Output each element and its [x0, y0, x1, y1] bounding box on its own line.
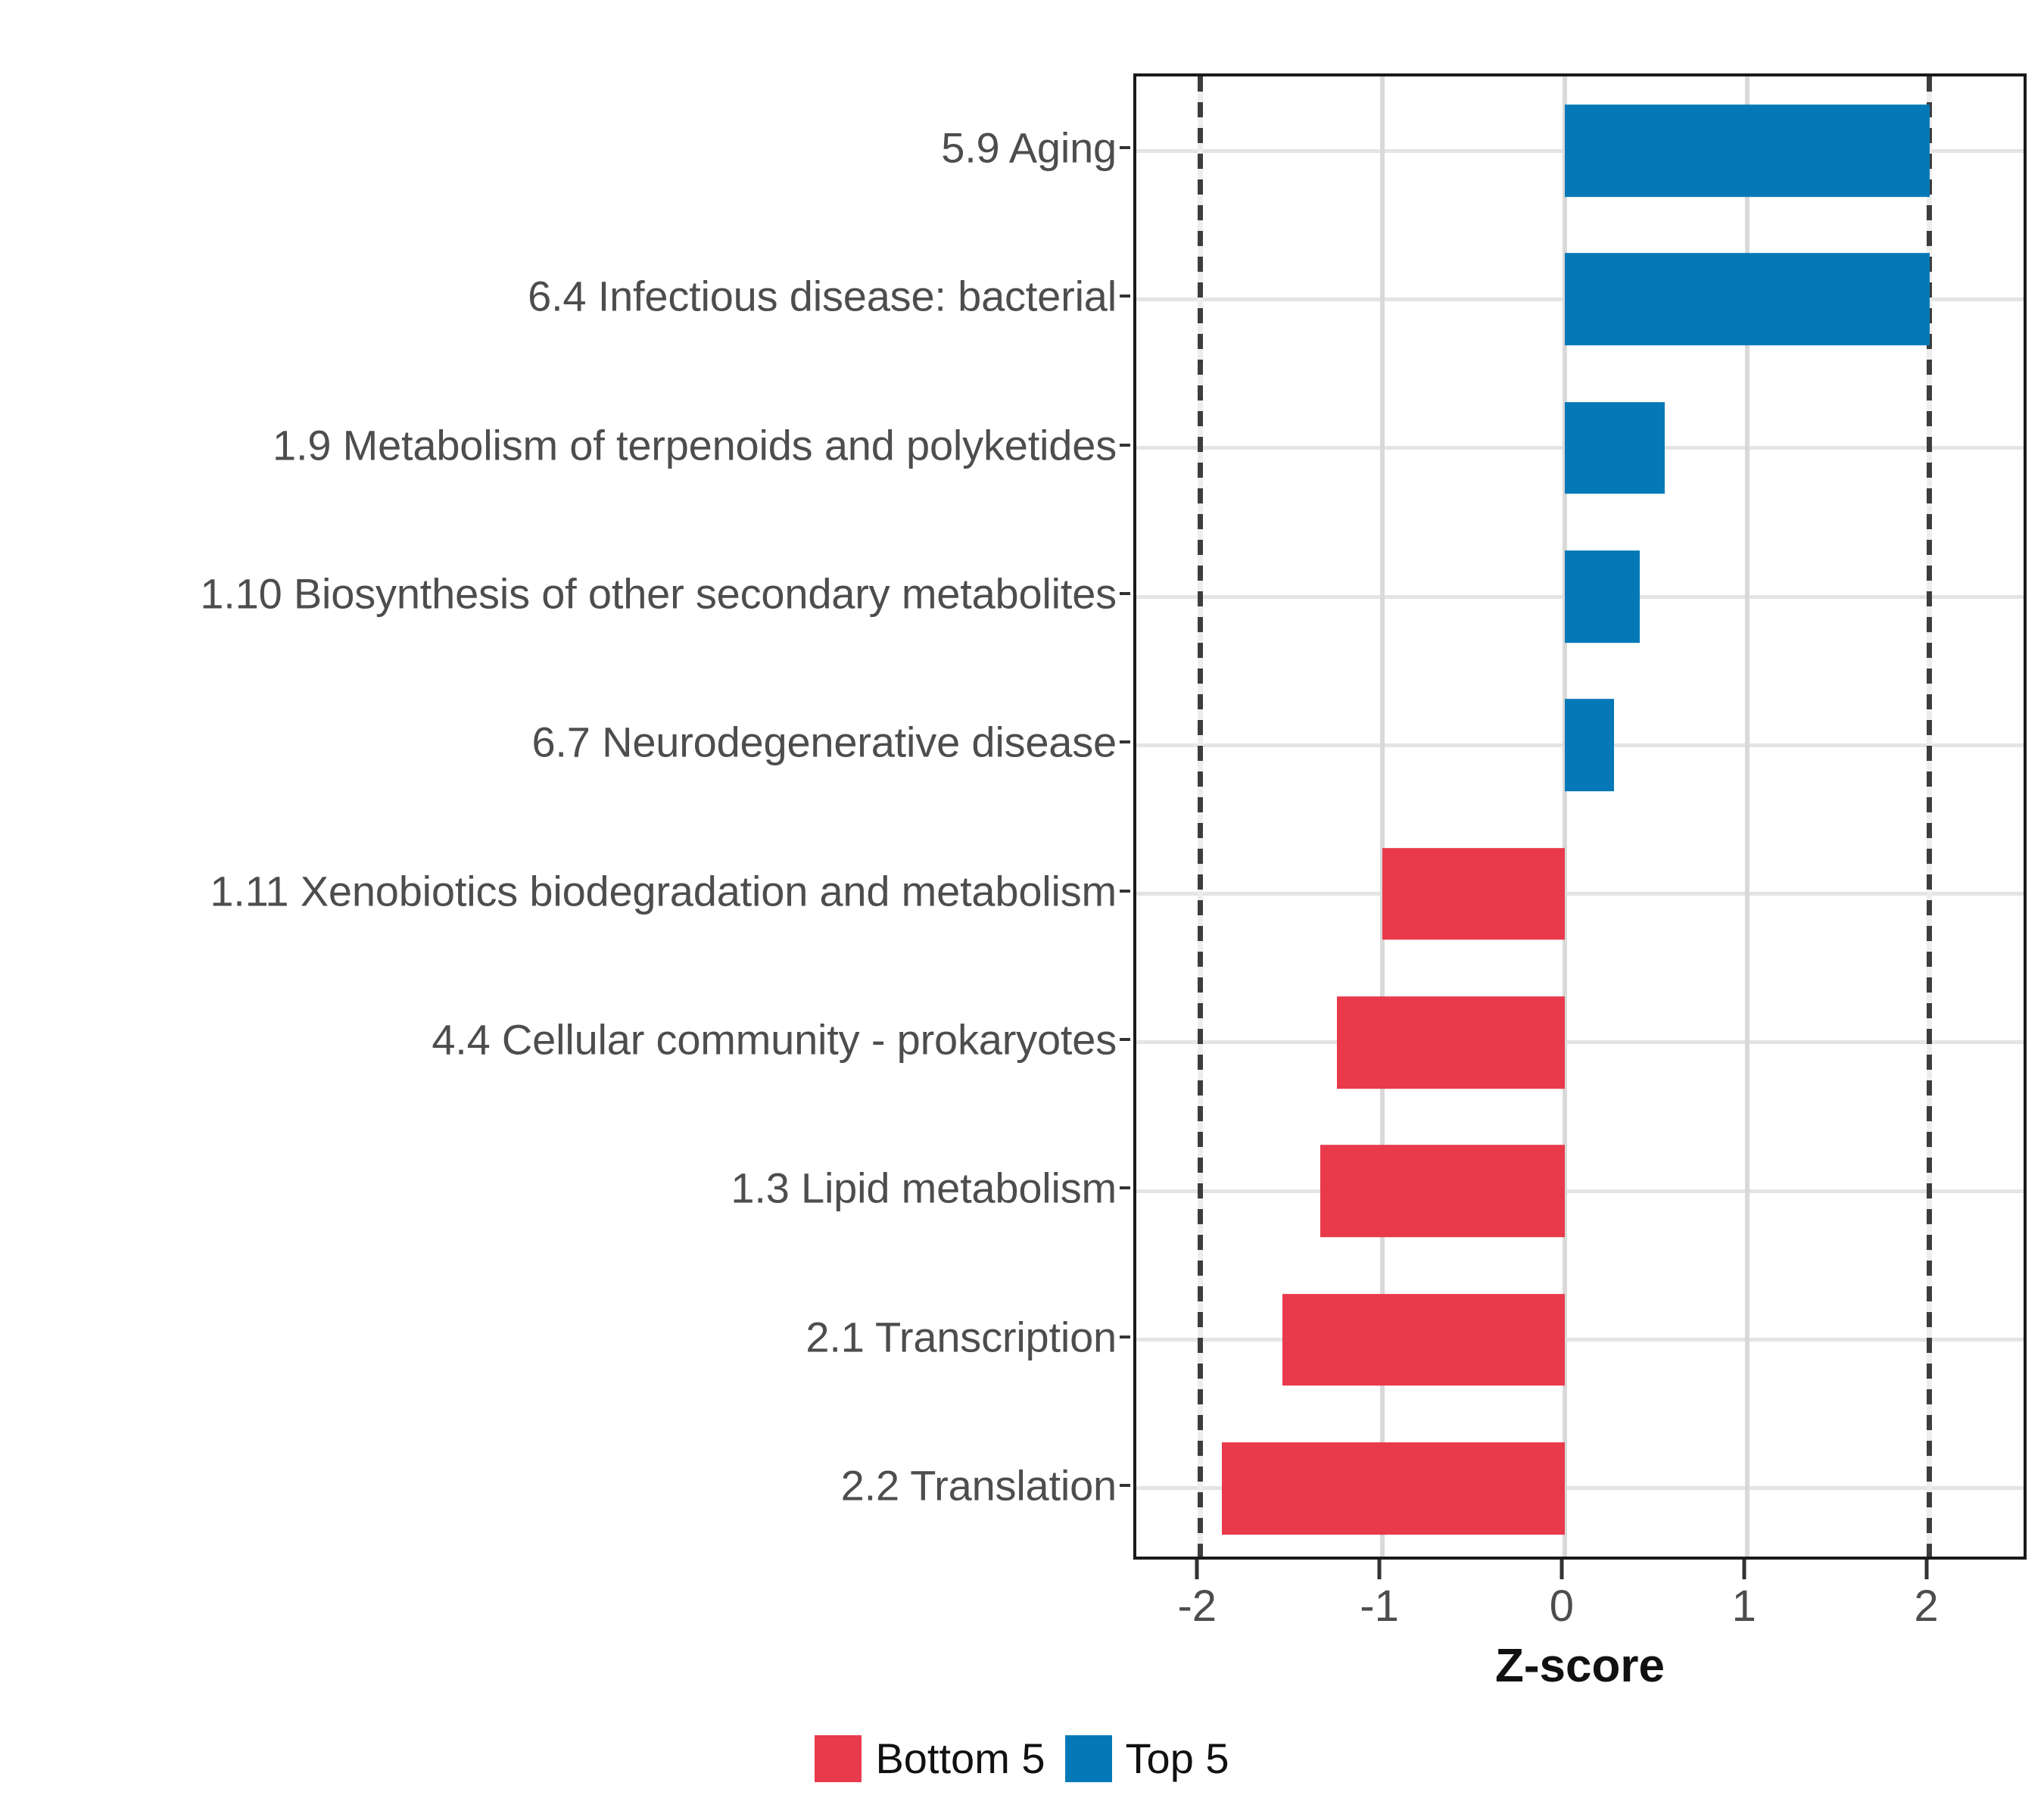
y-axis-tick-mark: [1120, 1186, 1130, 1189]
legend-label: Bottom 5: [875, 1734, 1045, 1783]
y-axis-tick-label: 1.3 Lipid metabolism: [731, 1164, 1117, 1213]
grid-line-horizontal: [1136, 1189, 2024, 1193]
x-axis-title: Z-score: [1133, 1639, 2027, 1693]
y-axis-tick-label: 2.2 Translation: [841, 1460, 1117, 1510]
y-axis-tick-label: 1.10 Biosynthesis of other secondary met…: [200, 569, 1117, 619]
x-axis-tick-mark: [1195, 1560, 1199, 1579]
x-axis-tick-label: 2: [1914, 1581, 1938, 1632]
x-axis-tick-label: -2: [1177, 1581, 1217, 1632]
y-axis-tick-mark: [1120, 740, 1130, 743]
x-axis-tick-label: 1: [1732, 1581, 1756, 1632]
y-axis-tick-mark: [1120, 1484, 1130, 1487]
x-axis-tick-mark: [1559, 1560, 1563, 1579]
y-axis-tick-mark: [1120, 890, 1130, 893]
x-axis-tick-label: -1: [1360, 1581, 1399, 1632]
bar[interactable]: [1565, 104, 1930, 197]
bar[interactable]: [1565, 699, 1614, 791]
plot-panel: [1133, 73, 2027, 1560]
y-axis-tick-label: 1.9 Metabolism of terpenoids and polyket…: [273, 420, 1117, 469]
bar[interactable]: [1337, 996, 1565, 1089]
grid-line-horizontal: [1136, 892, 2024, 896]
x-axis-tick-mark: [1742, 1560, 1746, 1579]
y-axis-tick-mark: [1120, 444, 1130, 447]
y-axis-tick-label: 4.4 Cellular community - prokaryotes: [432, 1014, 1117, 1064]
bar[interactable]: [1565, 402, 1665, 494]
legend-item[interactable]: Top 5: [1065, 1734, 1229, 1783]
bar[interactable]: [1382, 848, 1565, 940]
y-axis-tick-label: 5.9 Aging: [941, 123, 1117, 173]
bar[interactable]: [1222, 1442, 1565, 1535]
y-axis-tick-mark: [1120, 146, 1130, 149]
plot-area: [1136, 76, 2024, 1557]
x-axis-tick-mark: [1378, 1560, 1382, 1579]
chart-root: 5.9 Aging6.4 Infectious disease: bacteri…: [0, 0, 2044, 1817]
y-axis-tick-label: 6.4 Infectious disease: bacterial: [528, 272, 1117, 321]
legend-swatch-icon: [815, 1735, 862, 1782]
legend-label: Top 5: [1126, 1734, 1229, 1783]
grid-line-horizontal: [1136, 1040, 2024, 1044]
y-axis-tick-label: 1.11 Xenobiotics biodegradation and meta…: [210, 866, 1117, 915]
y-axis-tick-label: 2.1 Transcription: [805, 1312, 1117, 1361]
grid-line-horizontal: [1136, 1338, 2024, 1342]
legend: Bottom 5Top 5: [0, 1734, 2044, 1783]
y-axis-labels: 5.9 Aging6.4 Infectious disease: bacteri…: [0, 73, 1133, 1560]
bar[interactable]: [1565, 550, 1640, 643]
y-axis-tick-mark: [1120, 1038, 1130, 1041]
bar[interactable]: [1282, 1294, 1565, 1386]
x-axis: -2-1012: [1133, 1560, 2027, 1650]
x-axis-tick-label: 0: [1550, 1581, 1574, 1632]
y-axis-tick-mark: [1120, 1335, 1130, 1339]
y-axis-tick-mark: [1120, 295, 1130, 298]
bar[interactable]: [1565, 254, 1930, 346]
legend-item[interactable]: Bottom 5: [815, 1734, 1045, 1783]
y-axis-tick-label: 6.7 Neurodegenerative disease: [531, 718, 1117, 767]
x-axis-tick-mark: [1924, 1560, 1928, 1579]
y-axis-tick-mark: [1120, 592, 1130, 595]
legend-swatch-icon: [1065, 1735, 1112, 1782]
reference-line-dashed: [1198, 76, 1203, 1557]
bar[interactable]: [1320, 1145, 1565, 1237]
